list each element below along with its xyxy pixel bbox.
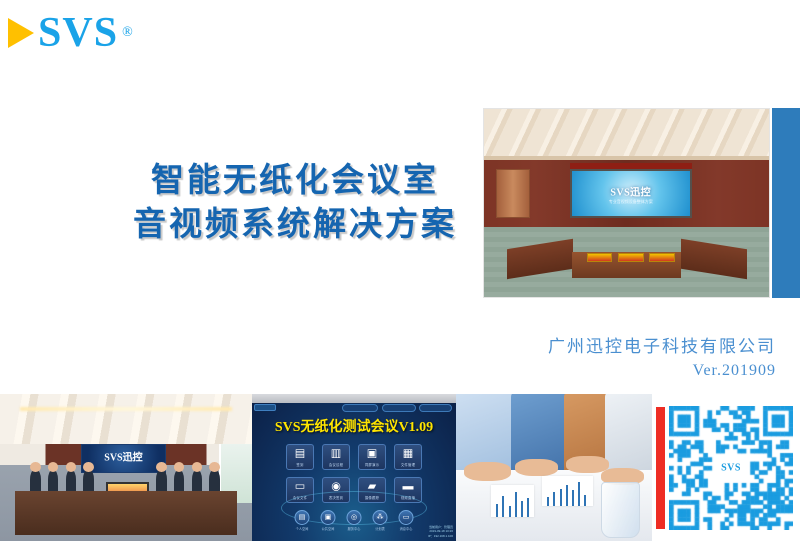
qr-center-label: SVS (715, 457, 747, 478)
qr-code[interactable]: SVS (669, 406, 793, 530)
slide-root: SVS ® 智能无纸化会议室 音视频系统解决方案 SVS迅控 专业音视频设备整体… (0, 0, 800, 541)
desk-flag (649, 253, 675, 262)
screen-icon: ▣ (367, 448, 377, 459)
wall-banner (570, 163, 693, 170)
room-scene: SVS迅控 (0, 394, 252, 541)
red-accent-bar (656, 407, 665, 529)
door (496, 169, 530, 218)
play-triangle-icon (8, 18, 34, 48)
ceiling (0, 394, 252, 444)
folder-icon: ▭ (295, 481, 305, 492)
chart-paper (491, 485, 534, 517)
water-glass (601, 482, 640, 538)
page-title: 智能无纸化会议室 音视频系统解决方案 (100, 158, 490, 246)
service-icon: ◎ (347, 510, 362, 525)
conference-room-render: SVS迅控 专业音视频设备整体方案 (483, 108, 770, 298)
screen-text: SVS迅控 (104, 448, 142, 463)
app-tile[interactable]: ▥ 会议议程 (322, 444, 350, 470)
led-screen-subtitle: 专业音视频设备整体方案 (609, 199, 653, 205)
dock-item[interactable]: ▭ 消息中心 (399, 510, 414, 531)
paperless-software-screenshot: SVS无纸化测试会议V1.09 ▤ 签到 ▥ 会议议程 ▣ 同屏演示 ▦ 文件管… (252, 394, 456, 541)
titlebar-button-3[interactable] (419, 404, 452, 412)
logo-wordmark: SVS (38, 12, 118, 54)
app-tile[interactable]: ▤ 签到 (286, 444, 314, 470)
svs-logo: SVS ® (8, 12, 133, 54)
app-label: 会议议程 (323, 462, 349, 467)
plan-icon: ⁂ (373, 510, 388, 525)
titlebar-button-2[interactable] (382, 404, 416, 412)
window-titlebar (252, 394, 456, 403)
app-label: 文件管理 (395, 462, 421, 467)
dock-label: 服务中心 (347, 526, 362, 531)
message-icon: ▭ (399, 510, 414, 525)
business-meeting-photo (456, 394, 652, 541)
registered-trademark-icon: ® (122, 25, 133, 41)
app-tile[interactable]: ▣ 同屏演示 (358, 444, 386, 470)
hand (464, 462, 511, 481)
dock-label: 公共空间 (321, 526, 336, 531)
chart-paper (542, 476, 593, 505)
dock-item[interactable]: ▤ 个人空间 (295, 510, 310, 531)
app-label: 同屏演示 (359, 462, 385, 467)
user-icon: ▤ (295, 510, 310, 525)
titlebar-button-1[interactable] (342, 404, 378, 412)
bottom-dock: ▤ 个人空间 ▣ 公共空间 ◎ 服务中心 ⁂ 计划表 ▭ 消息中心 (295, 510, 414, 531)
title-line-2: 音视频系统解决方案 (100, 202, 490, 246)
clipboard-icon: ▤ (295, 448, 305, 459)
ceiling (484, 109, 769, 160)
dock-label: 消息中心 (399, 526, 414, 531)
video-icon: ▬ (403, 481, 414, 492)
dock-item[interactable]: ⁂ 计划表 (373, 510, 388, 531)
titlebar-left-button[interactable] (254, 404, 276, 411)
right-accent-bar (772, 108, 800, 298)
qr-code-block: SVS (652, 394, 800, 541)
public-icon: ▣ (321, 510, 336, 525)
dock-item[interactable]: ◎ 服务中心 (347, 510, 362, 531)
dock-label: 计划表 (373, 526, 388, 531)
version-label: Ver.201909 (693, 362, 776, 380)
meeting-room-photo: SVS迅控 (0, 394, 252, 541)
hand (515, 459, 558, 477)
software-title: SVS无纸化测试会议V1.09 (252, 416, 456, 436)
status-line: IP：192.168.1.100 (428, 534, 453, 538)
desk-flag (618, 253, 644, 262)
led-screen-brand: SVS迅控 (610, 183, 651, 198)
led-screen: SVS迅控 专业音视频设备整体方案 (570, 169, 693, 218)
agenda-icon: ▥ (331, 448, 341, 459)
status-readout: 当前用户：管理员 2019-09-18 10:26 IP：192.168.1.1… (428, 525, 453, 538)
company-name: 广州迅控电子科技有限公司 (548, 332, 776, 357)
meeting-scene (456, 394, 652, 541)
app-label: 签到 (287, 462, 313, 467)
dock-label: 个人空间 (295, 526, 310, 531)
bottom-image-strip: SVS迅控 SV (0, 394, 800, 541)
desk-flag (587, 253, 613, 262)
dock-item[interactable]: ▣ 公共空间 (321, 510, 336, 531)
software-ui: SVS无纸化测试会议V1.09 ▤ 签到 ▥ 会议议程 ▣ 同屏演示 ▦ 文件管… (252, 394, 456, 541)
document-icon: ▦ (403, 448, 413, 459)
app-tile[interactable]: ▦ 文件管理 (394, 444, 422, 470)
conference-table (15, 491, 237, 535)
title-line-1: 智能无纸化会议室 (100, 158, 490, 202)
